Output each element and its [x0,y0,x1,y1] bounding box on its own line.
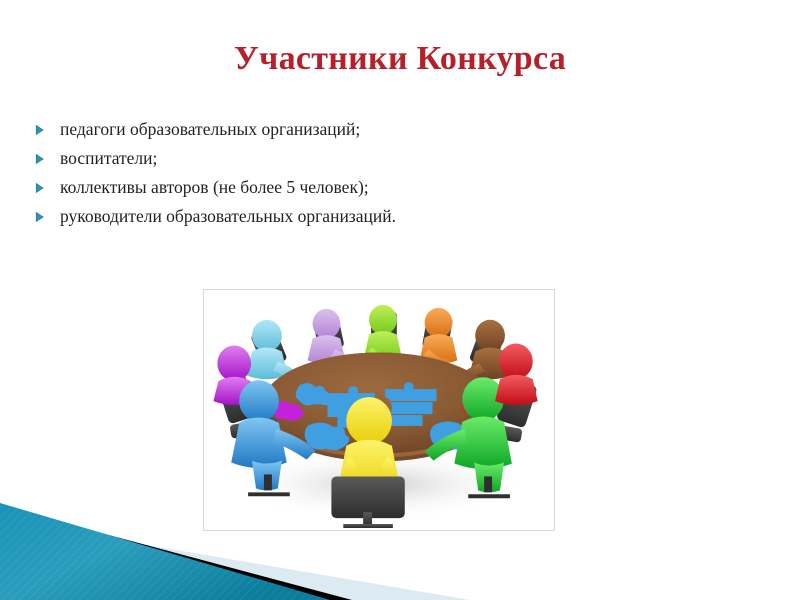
slide-image [203,289,555,531]
list-item-label: воспитатели; [60,147,554,169]
triangle-right-icon [34,119,60,141]
list-item: воспитатели; [34,147,554,169]
list-item: коллективы авторов (не более 5 человек); [34,176,554,198]
triangle-right-icon [34,177,60,199]
triangle-right-icon [34,206,60,228]
list-item-label: руководители образовательных организаций… [60,205,554,227]
list-item-label: педагоги образовательных организаций; [60,118,554,140]
page-title: Участники Конкурса [0,38,800,80]
participants-list: педагоги образовательных организаций; во… [34,118,554,234]
triangle-right-icon [34,148,60,170]
list-item-label: коллективы авторов (не более 5 человек); [60,176,554,198]
list-item: педагоги образовательных организаций; [34,118,554,140]
slide: Участники Конкурса педагоги образователь… [0,0,800,600]
round-table-meeting-clipart [204,290,554,530]
list-item: руководители образовательных организаций… [34,205,554,227]
